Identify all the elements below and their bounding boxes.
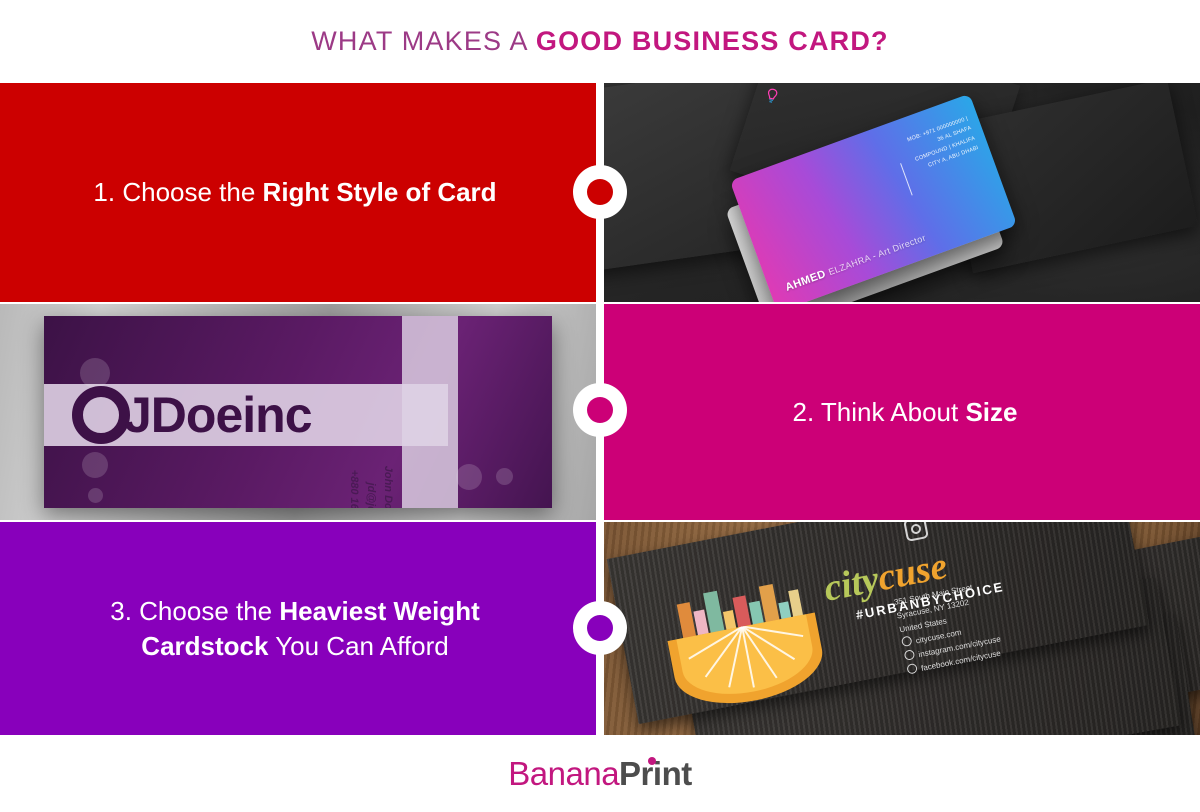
timeline-connector-1: [573, 165, 627, 219]
connector-dot-3: [587, 615, 613, 641]
step-3-text: 3. Choose the Heaviest Weight Cardstock …: [60, 594, 530, 664]
card-dot: [496, 468, 513, 485]
card-name-text: AHMED: [784, 268, 828, 294]
page-title-light: WHAT MAKES A: [311, 26, 536, 56]
jdoeinc-logo-text: JDoeinc: [124, 390, 312, 440]
brand-part-1: city: [820, 558, 882, 610]
page-header: WHAT MAKES A GOOD BUSINESS CARD?: [0, 0, 1200, 83]
card-contact-text: MOB: +971 000000000 | 36 AL SHAFA COMPOU…: [900, 114, 980, 177]
circle-logo-icon: [72, 386, 130, 444]
card-vertical-contact: John Doe | jd@jd... +880 1677: [345, 322, 396, 508]
step-3-text-before: 3. Choose the: [110, 596, 279, 626]
instagram-small-icon: [904, 649, 916, 661]
photo-card-holder: MOB: +971 000000000 | 36 AL SHAFA COMPOU…: [600, 83, 1200, 302]
vertical-line-1: John Doe |: [382, 466, 394, 508]
card-dot: [82, 452, 108, 478]
page-title: WHAT MAKES A GOOD BUSINESS CARD?: [311, 26, 888, 57]
step-1-text: 1. Choose the Right Style of Card: [93, 175, 496, 210]
step-3-text-after: You Can Afford: [268, 631, 448, 661]
timeline-connector-3: [573, 601, 627, 655]
logo-i-dot: [648, 757, 656, 765]
step-2-text-bold: Size: [965, 397, 1017, 427]
card-vertical-strip: [402, 316, 458, 508]
page-title-bold: GOOD BUSINESS CARD?: [536, 26, 889, 56]
jdoeinc-logo: JDoeinc: [72, 380, 312, 450]
jdoeinc-business-card: JDoeinc John Doe | jd@jd... +880 1677: [44, 316, 552, 508]
logo-banana-text: Banana: [508, 755, 619, 792]
step-1-text-bold: Right Style of Card: [263, 177, 497, 207]
step-2-text-panel: 2. Think About Size: [600, 304, 1200, 520]
page-footer: BananaPrint: [0, 735, 1200, 812]
card-dot: [456, 464, 482, 490]
step-1-text-before: 1. Choose the: [93, 177, 262, 207]
bananaprint-logo[interactable]: BananaPrint: [508, 755, 691, 793]
infographic-grid: 1. Choose the Right Style of Card: [0, 83, 1200, 735]
globe-icon: [901, 635, 913, 647]
step-3-text-panel: 3. Choose the Heaviest Weight Cardstock …: [0, 522, 600, 735]
vertical-line-3: +880 1677: [348, 470, 360, 508]
step-1-text-panel: 1. Choose the Right Style of Card: [0, 83, 600, 302]
step-2-text-before: 2. Think About: [792, 397, 965, 427]
connector-dot-2: [587, 397, 613, 423]
connector-dot-1: [587, 179, 613, 205]
vertical-line-2: jd@jd...: [365, 483, 377, 508]
photo-jdoeinc-card: JDoeinc John Doe | jd@jd... +880 1677: [0, 304, 600, 520]
timeline-connector-2: [573, 383, 627, 437]
card-dot: [88, 488, 103, 503]
step-2-text: 2. Think About Size: [792, 395, 1017, 430]
citycuse-logo-icon: [659, 569, 825, 692]
facebook-small-icon: [906, 663, 918, 675]
photo-citycuse-cards: citycuse #URBANBYCHOICE 351 South Main S…: [600, 522, 1200, 735]
